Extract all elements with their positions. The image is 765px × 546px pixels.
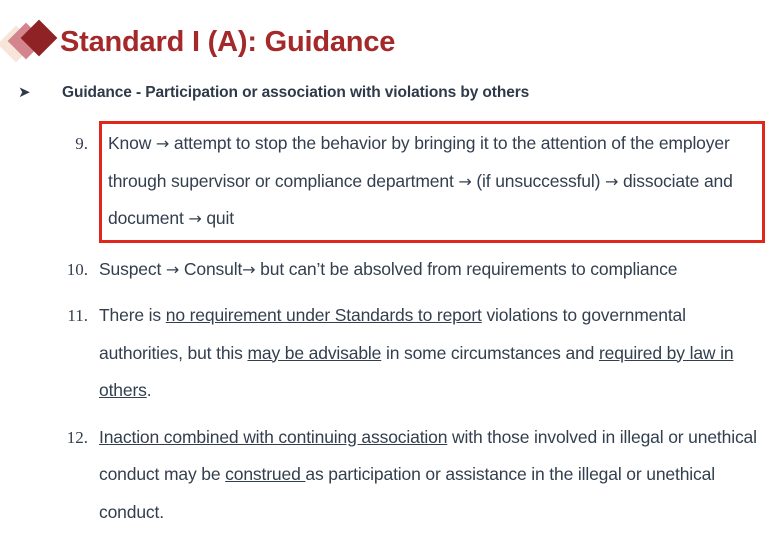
right-arrow-icon: → (242, 260, 255, 279)
underlined-phrase: Inaction combined with continuing associ… (99, 427, 447, 447)
list-item-number: 10. (50, 251, 99, 289)
text-run: Suspect (99, 259, 166, 279)
page-title: Standard I (A): Guidance (60, 26, 395, 59)
section-heading-label: Guidance - Participation or association … (62, 84, 529, 102)
list-item-number: 12. (50, 419, 99, 457)
list-item-text: Suspect → Consult→ but can’t be absolved… (99, 251, 765, 289)
right-arrow-icon: → (166, 260, 179, 279)
right-arrow-icon: → (458, 172, 471, 191)
list-item-number: 11. (50, 297, 99, 335)
text-run: There is (99, 305, 166, 325)
text-run: Know (108, 133, 156, 153)
right-arrow-icon: → (188, 209, 201, 228)
three-diamonds-logo (2, 19, 58, 65)
section-heading: ➤ Guidance - Participation or associatio… (18, 84, 529, 102)
list-item: 11.There is no requirement under Standar… (50, 297, 765, 410)
underlined-phrase: may be advisable (247, 343, 381, 363)
right-arrow-icon: → (605, 172, 618, 191)
text-run: quit (202, 208, 234, 228)
list-item: 10.Suspect → Consult→ but can’t be absol… (50, 251, 765, 289)
text-run: in some circumstances and (381, 343, 599, 363)
guidance-list: 9.Know → attempt to stop the behavior by… (50, 124, 765, 540)
list-item: 9.Know → attempt to stop the behavior by… (50, 124, 765, 243)
arrowhead-bullet-icon: ➤ (18, 85, 62, 100)
right-arrow-icon: → (156, 134, 169, 153)
list-item-text: Inaction combined with continuing associ… (99, 419, 765, 532)
list-item-text: There is no requirement under Standards … (99, 297, 765, 410)
text-run: (if unsuccessful) (472, 171, 605, 191)
list-item-number: 9. (50, 124, 99, 164)
underlined-phrase: no requirement under Standards to report (166, 305, 482, 325)
slide-title-row: Standard I (A): Guidance (0, 16, 395, 68)
text-run: . (147, 380, 152, 400)
underlined-phrase: construed (225, 464, 305, 484)
list-item: 12.Inaction combined with continuing ass… (50, 419, 765, 532)
text-run: Consult (179, 259, 242, 279)
list-item-text-highlighted: Know → attempt to stop the behavior by b… (99, 121, 765, 243)
text-run: but can’t be absolved from requirements … (255, 259, 677, 279)
